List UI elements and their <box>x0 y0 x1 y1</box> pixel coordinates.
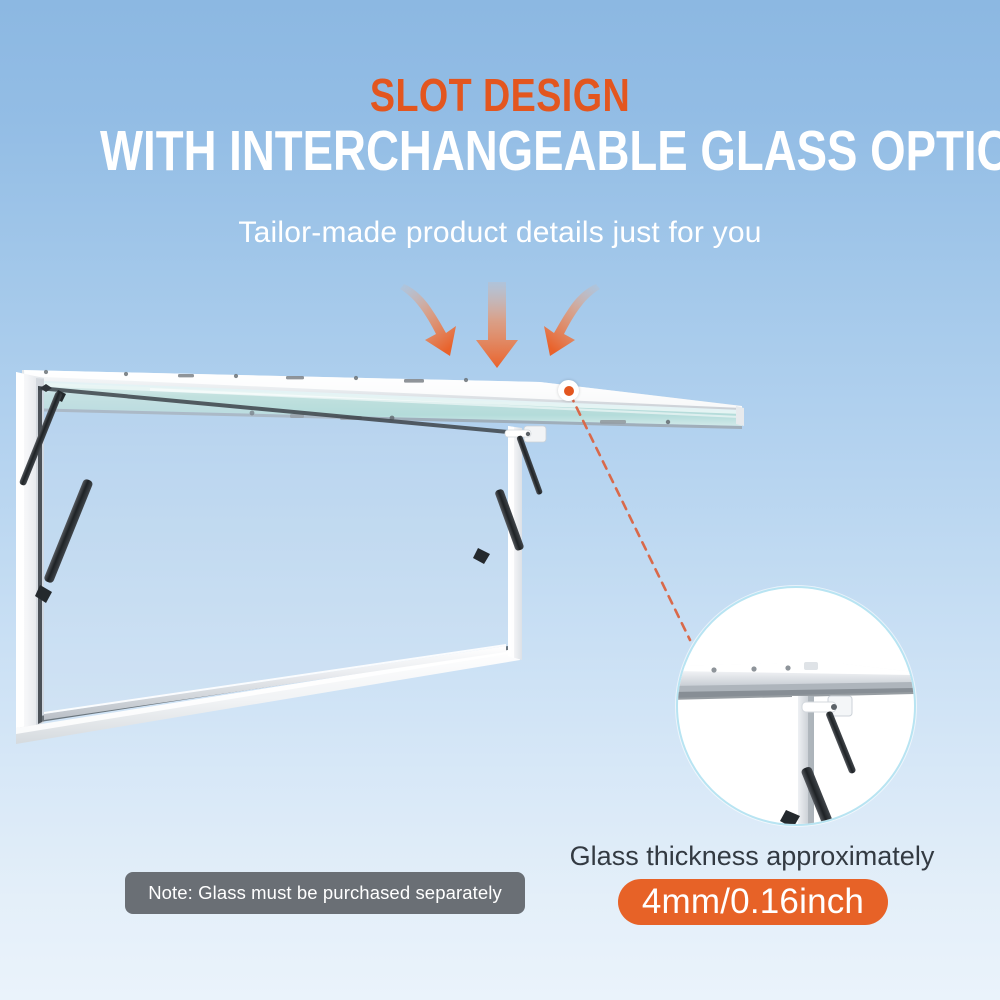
magnified-mullion-post <box>792 696 814 824</box>
sash-right-end-cap <box>736 406 744 426</box>
window-outer-frame <box>16 372 522 744</box>
page-title-primary: SLOT DESIGN <box>90 72 910 118</box>
magnified-sash-rail <box>678 662 914 700</box>
product-infographic: SLOT DESIGN WITH INTERCHANGEABLE GLASS O… <box>0 0 1000 1000</box>
page-title-secondary: WITH INTERCHANGEABLE GLASS OPTIONS <box>100 123 900 180</box>
glass-thickness-value-badge: 4mm/0.16inch <box>618 879 888 925</box>
hinge-detail-marker-icon[interactable] <box>558 380 579 401</box>
magnified-gas-strut <box>780 696 856 824</box>
note-banner: Note: Glass must be purchased separately <box>125 872 525 914</box>
glass-thickness-label: Glass thickness approximately <box>552 841 952 872</box>
hinge-detail-magnifier <box>676 586 916 826</box>
page-tagline: Tailor-made product details just for you <box>0 215 1000 251</box>
